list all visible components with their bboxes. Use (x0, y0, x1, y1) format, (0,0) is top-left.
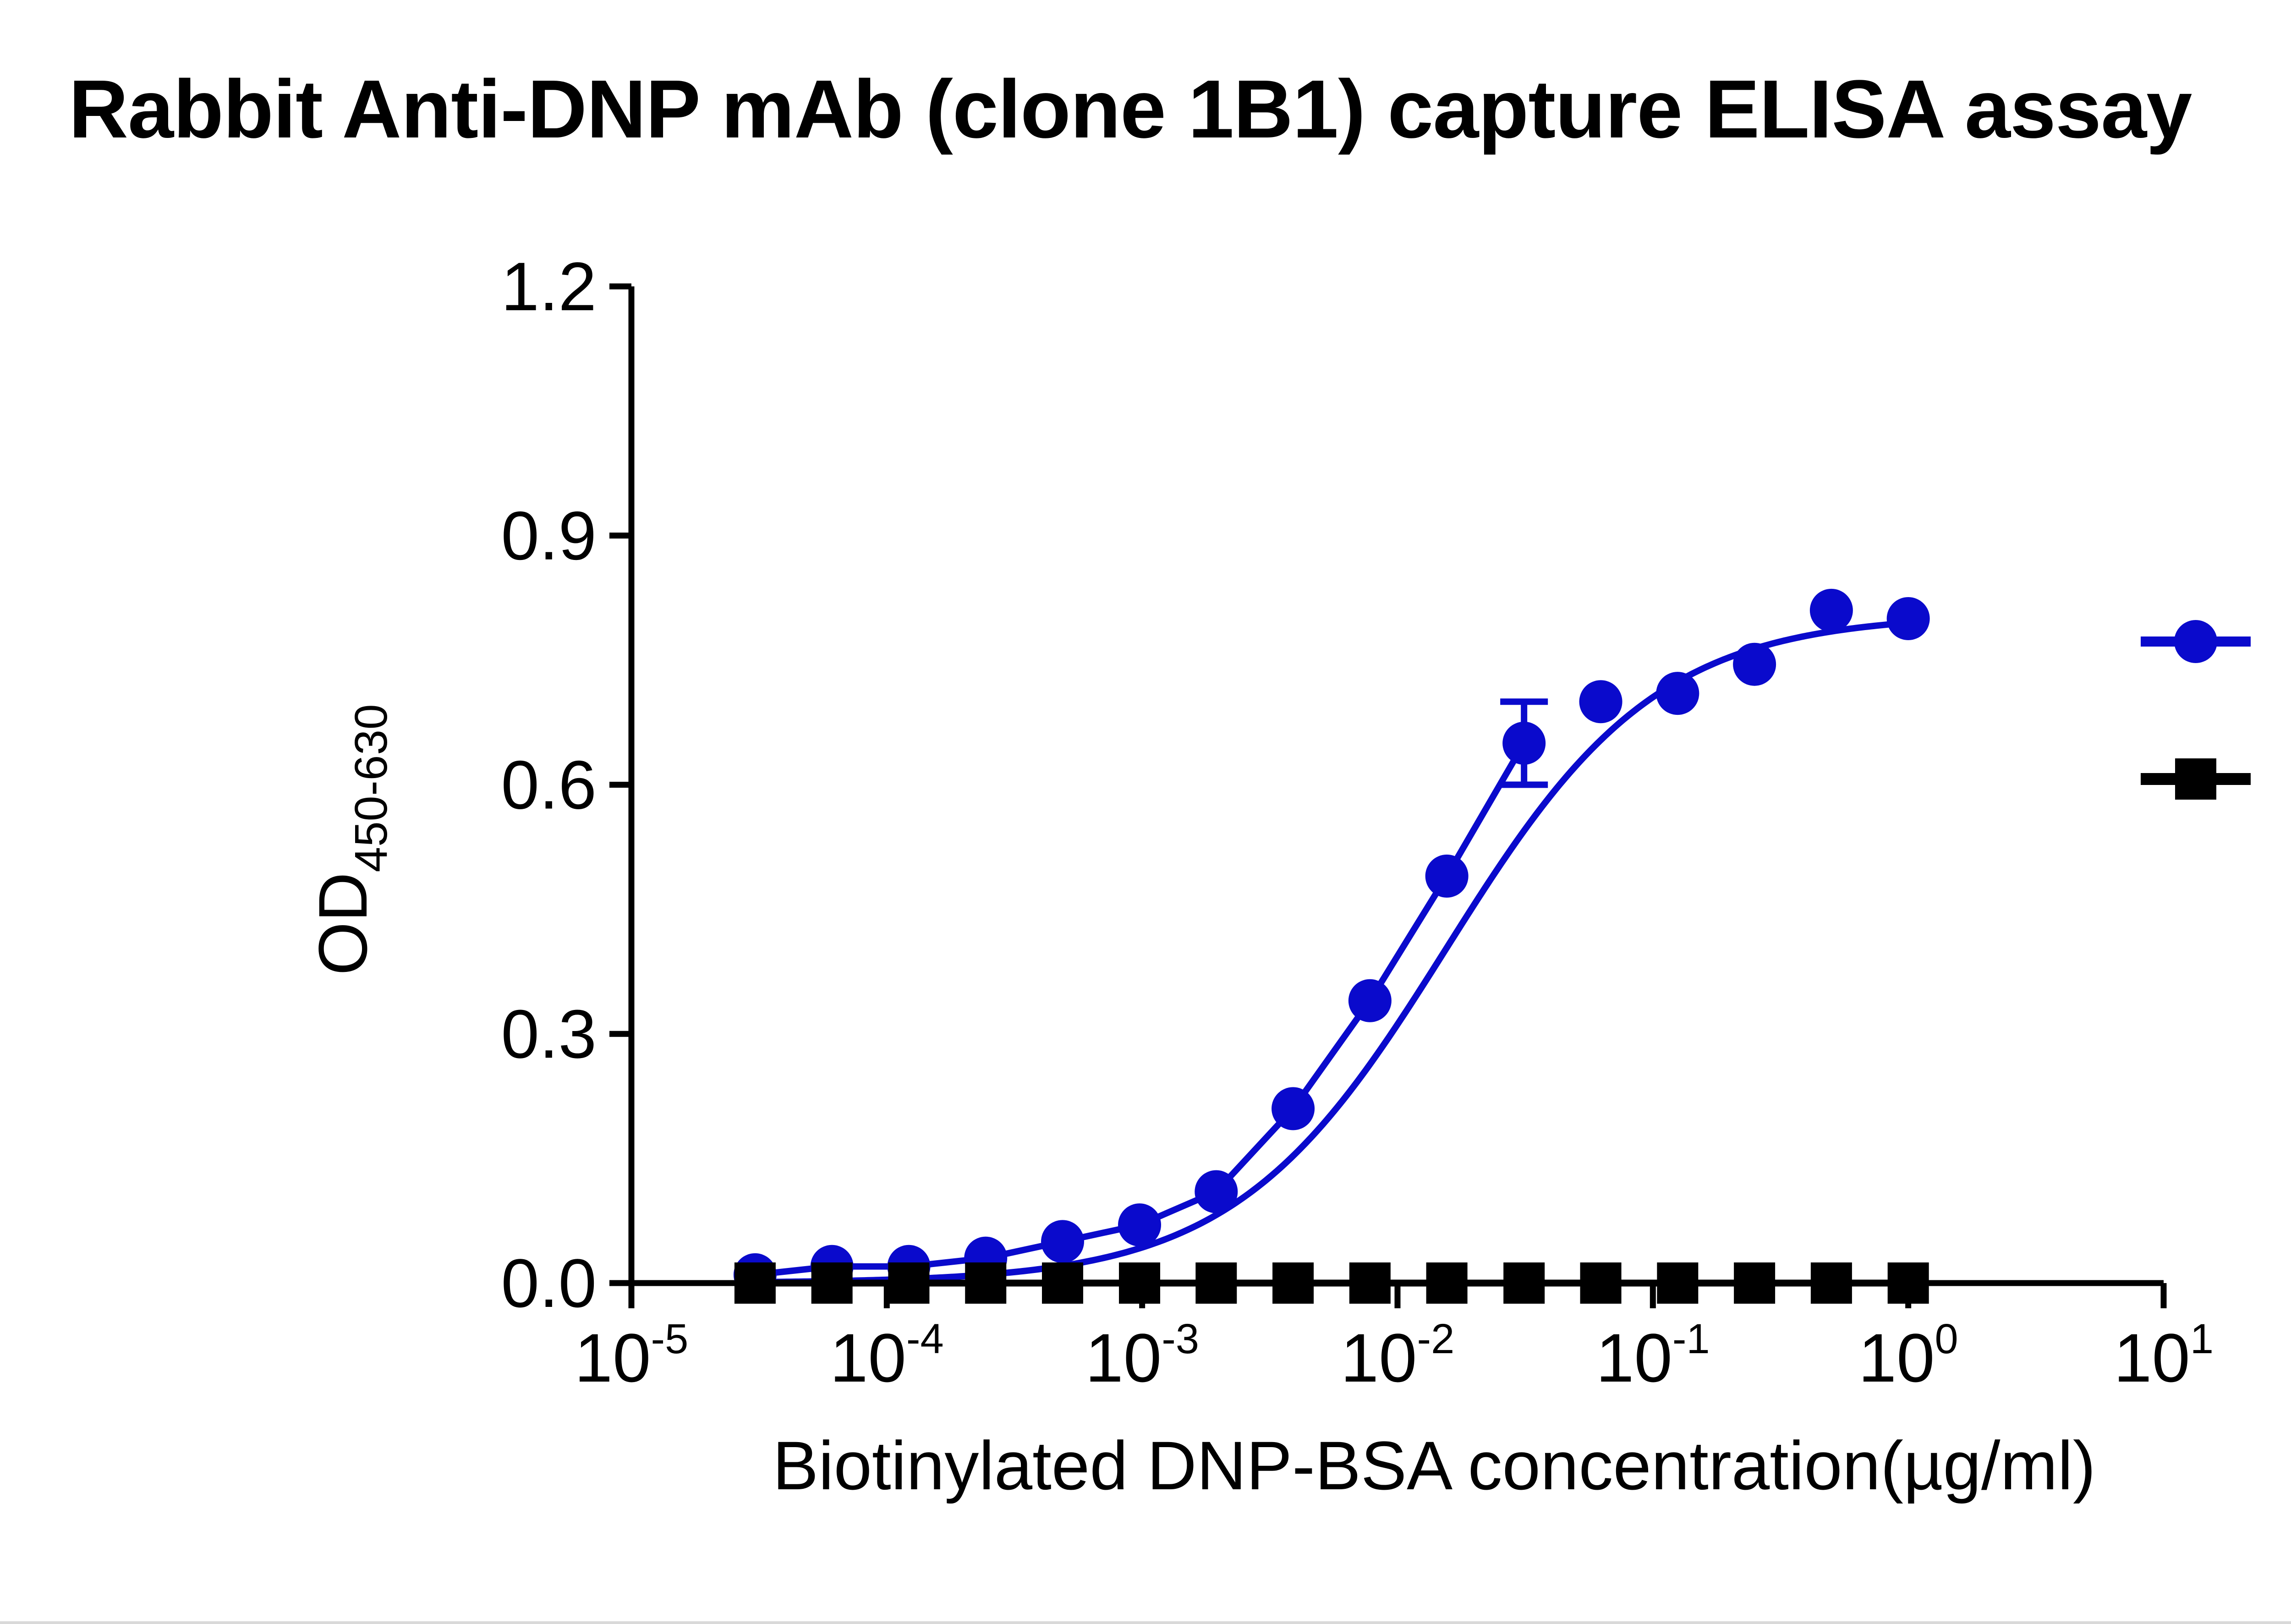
data-point-biotinylated-dnp-bsa (1195, 1170, 1238, 1213)
data-point-nc (1195, 1262, 1237, 1304)
fit-curve-biotinylated-dnp-bsa (755, 623, 1908, 1282)
y-axis-tick-label: 1.2 (501, 248, 597, 325)
x-axis-tick-label: 101 (2114, 1316, 2214, 1396)
bottom-divider (0, 1621, 2291, 1624)
x-axis-tick-label: 10-4 (830, 1316, 944, 1396)
plot-area: 1.20.90.60.30.010-510-410-310-210-110010… (0, 0, 2291, 1624)
axis-labels-group: 1.20.90.60.30.010-510-410-310-210-110010… (304, 248, 2214, 1504)
data-point-biotinylated-dnp-bsa (1041, 1220, 1084, 1263)
data-point-nc (1426, 1262, 1468, 1304)
x-axis-tick-label: 10-1 (1596, 1316, 1710, 1396)
data-point-biotinylated-dnp-bsa (1579, 680, 1622, 723)
x-axis-title: Biotinylated DNP-BSA concentration(µg/ml… (773, 1427, 2096, 1504)
data-point-nc (811, 1262, 853, 1304)
data-point-biotinylated-dnp-bsa (1887, 597, 1930, 640)
data-point-biotinylated-dnp-bsa (1810, 589, 1853, 632)
data-point-nc (1888, 1262, 1929, 1304)
y-axis-tick-label: 0.0 (501, 1245, 597, 1322)
legend-group: Biotinylated DNP-BSANC (2141, 604, 2291, 819)
y-axis-title: OD450-630 (304, 704, 397, 976)
data-point-nc (1580, 1262, 1622, 1304)
data-point-nc (1811, 1262, 1852, 1304)
legend-marker-circle (2174, 620, 2217, 663)
data-point-nc (1349, 1262, 1391, 1304)
legend-item[interactable]: Biotinylated DNP-BSA (2141, 604, 2291, 681)
data-point-biotinylated-dnp-bsa (1272, 1087, 1315, 1130)
y-axis-tick-label: 0.9 (501, 497, 597, 574)
y-axis-tick-label: 0.6 (501, 746, 597, 823)
data-point-nc (1657, 1262, 1698, 1304)
data-point-nc (1272, 1262, 1314, 1304)
y-axis-tick-label: 0.3 (501, 995, 597, 1072)
data-point-biotinylated-dnp-bsa (1425, 855, 1469, 898)
data-point-biotinylated-dnp-bsa (1656, 672, 1699, 715)
data-point-nc (734, 1262, 776, 1304)
x-axis-tick-label: 10-5 (575, 1316, 689, 1396)
data-point-nc (1119, 1262, 1160, 1304)
data-point-nc (965, 1262, 1006, 1304)
data-point-biotinylated-dnp-bsa (1348, 979, 1392, 1022)
figure-canvas: Rabbit Anti-DNP mAb (clone 1B1) capture … (0, 0, 2291, 1624)
series-group (734, 589, 1930, 1304)
x-axis-tick-label: 10-2 (1341, 1316, 1455, 1396)
legend-marker-square (2175, 758, 2216, 800)
data-point-biotinylated-dnp-bsa (1118, 1203, 1161, 1246)
x-axis-tick-label: 10-3 (1085, 1316, 1199, 1396)
legend-item[interactable]: NC (2141, 742, 2291, 819)
data-point-nc (1503, 1262, 1545, 1304)
x-axis-tick-label: 100 (1858, 1316, 1958, 1396)
data-point-biotinylated-dnp-bsa (1502, 722, 1546, 765)
axis-spine (631, 286, 2164, 1283)
data-point-nc (888, 1262, 929, 1304)
data-point-nc (1042, 1262, 1083, 1304)
axes-group (609, 286, 2164, 1308)
data-point-biotinylated-dnp-bsa (1733, 643, 1776, 686)
data-point-nc (1734, 1262, 1775, 1304)
